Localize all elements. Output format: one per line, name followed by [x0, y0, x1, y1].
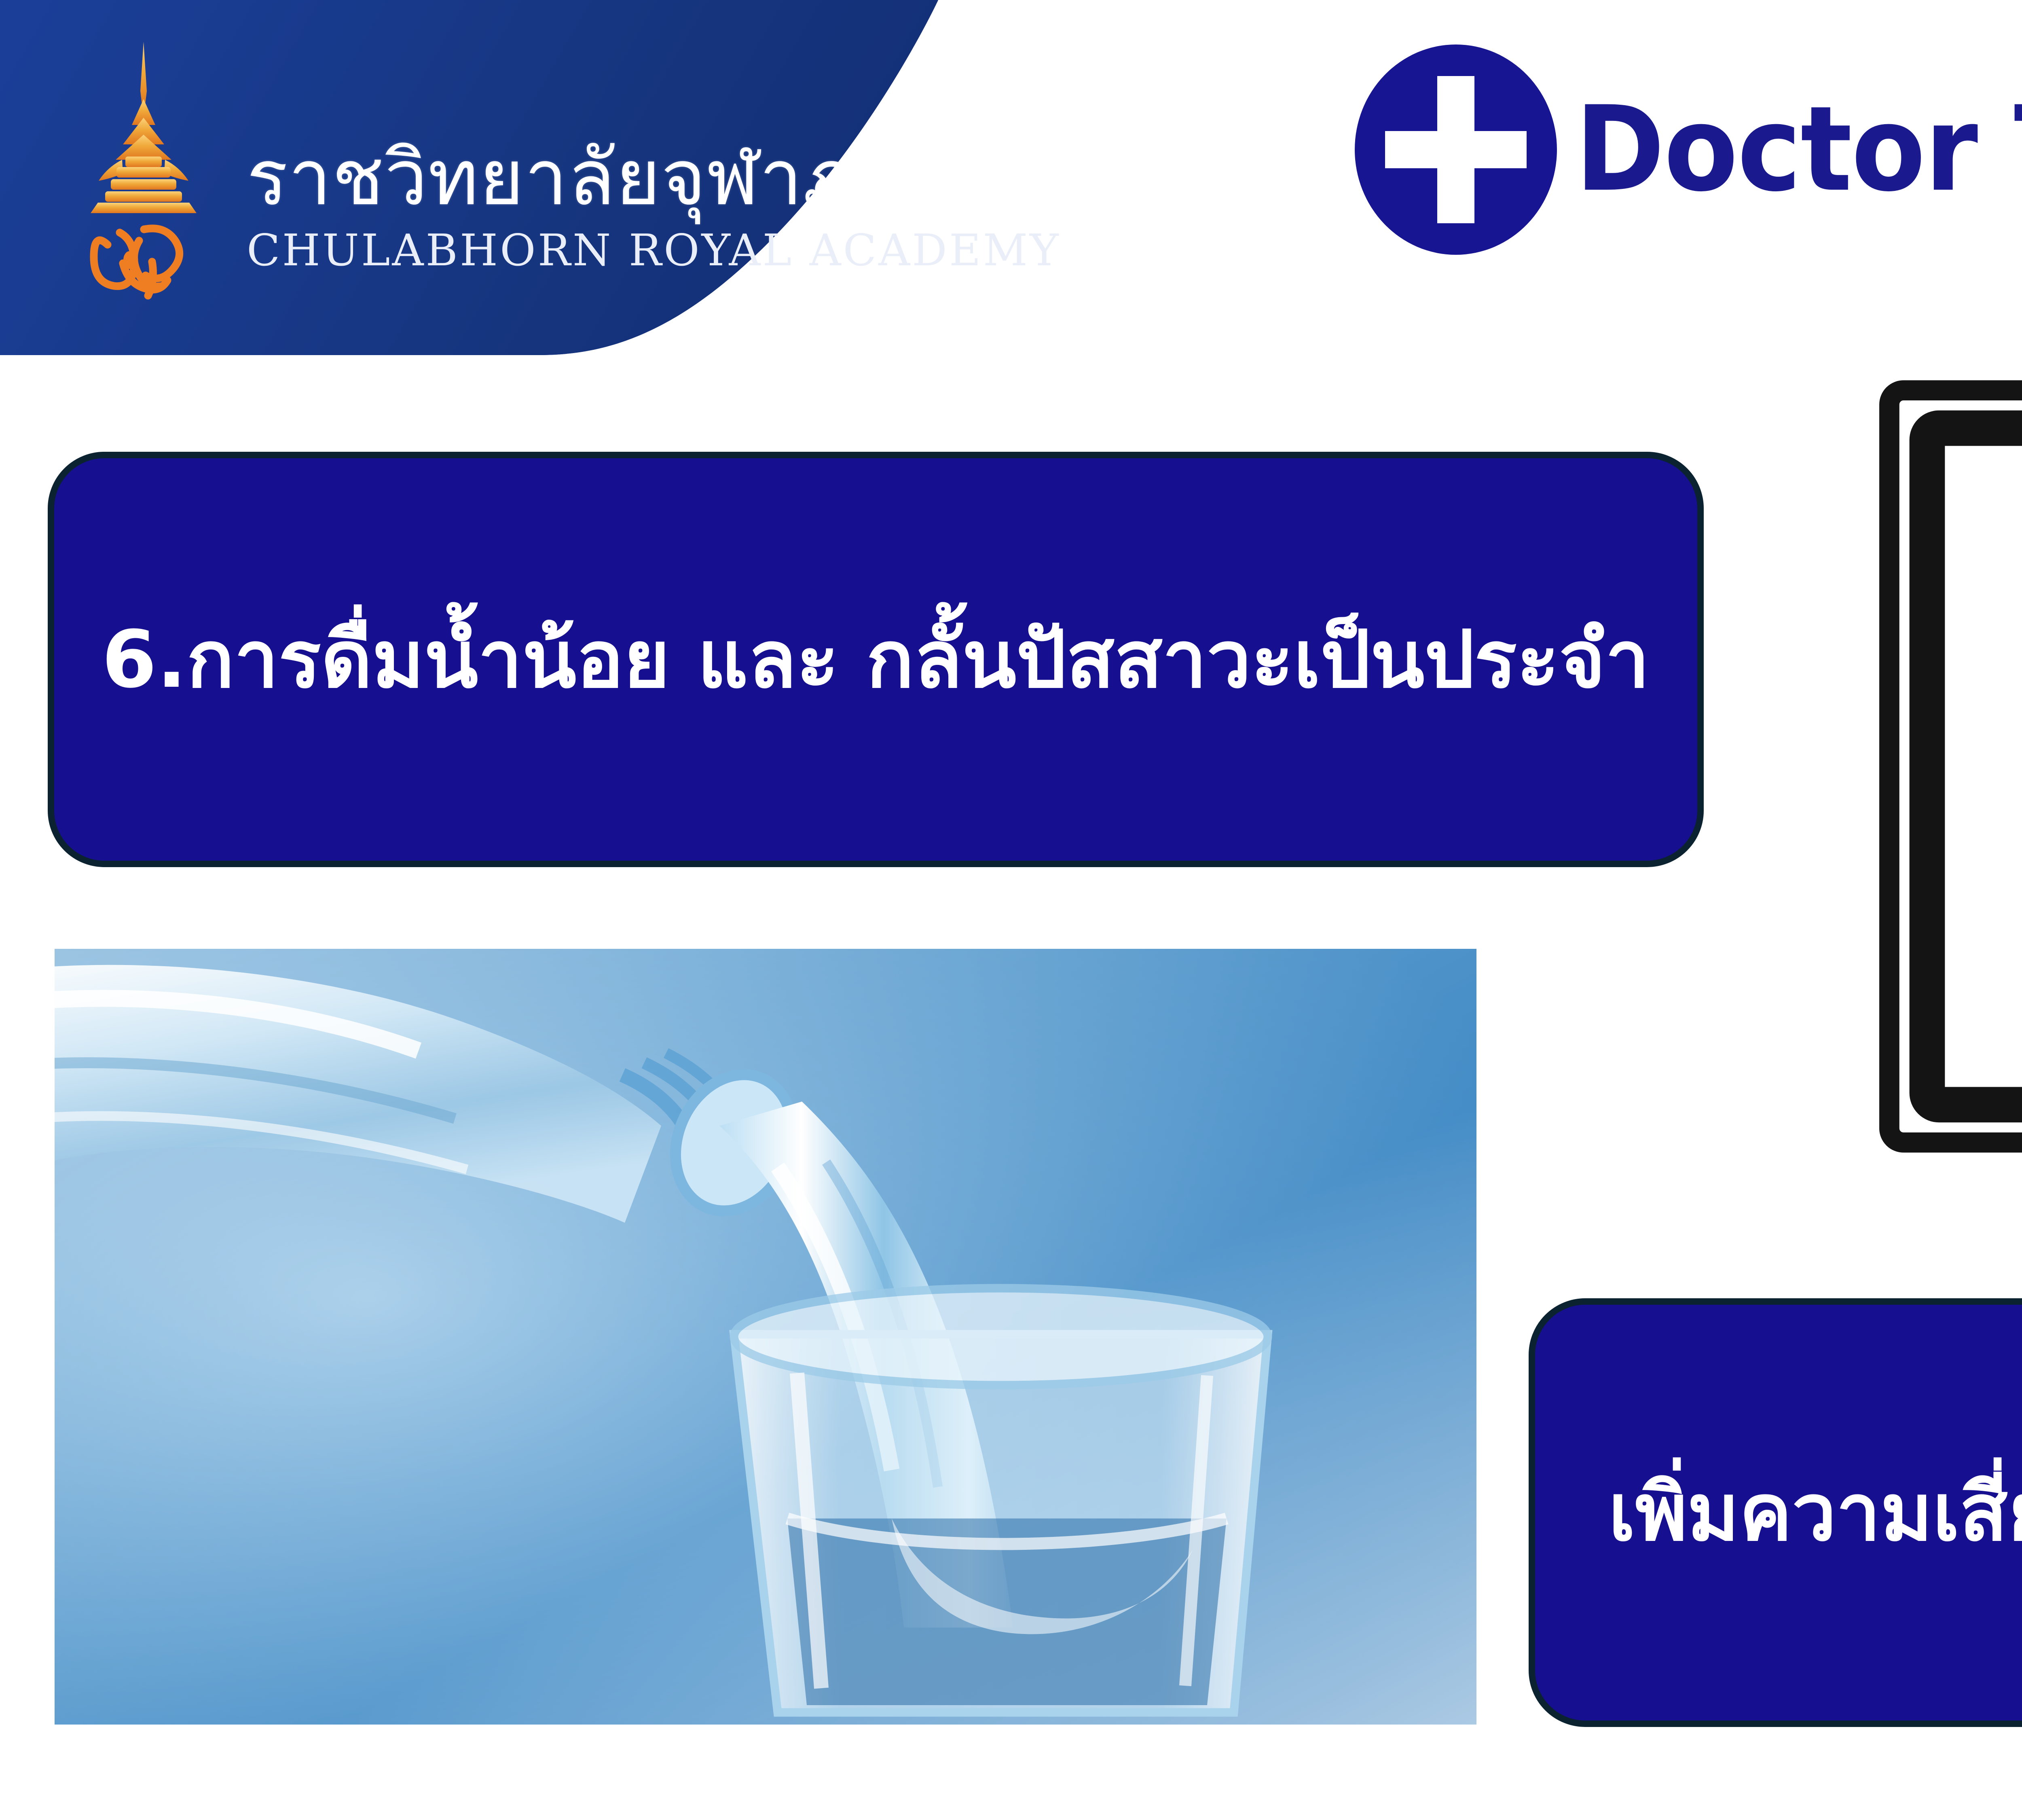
chulabhorn-royal-academy-logo: ราชวิทยาลัยจุฬาภรณ์ CHULABHORN ROYAL ACA… — [69, 32, 776, 324]
slide-canvas: ราชวิทยาลัยจุฬาภรณ์ CHULABHORN ROYAL ACA… — [0, 0, 2022, 1820]
doctor-talk-title-group: Doctor Talk — [1355, 44, 2022, 255]
lesson-title-box: 6.การดื่มน้ำน้อย และ กลั้นปัสสาวะเป็นประ… — [48, 452, 1704, 867]
medical-cross-circle-icon — [1355, 44, 1557, 255]
doctor-talk-title: Doctor Talk — [1575, 91, 2022, 208]
royal-pagoda-emblem-icon — [69, 38, 218, 317]
risk-statement-box: เพิ่มความเสี่ยงต่อการติดเชื้อทางเดินปัสส… — [1529, 1298, 2022, 1727]
institution-thai-name: ราชวิทยาลัยจุฬาภรณ์ — [247, 138, 1061, 218]
institution-name-block: ราชวิทยาลัยจุฬาภรณ์ CHULABHORN ROYAL ACA… — [247, 81, 1061, 275]
restroom-sign-group — [1876, 376, 2022, 1157]
water-pouring-photo — [55, 949, 1476, 1725]
male-holding-urine-sign-icon — [1876, 376, 2022, 1157]
institution-english-name: CHULABHORN ROYAL ACADEMY — [247, 227, 1061, 275]
risk-statement-text: เพิ่มความเสี่ยงต่อการติดเชื้อทางเดินปัสส… — [1572, 1459, 2022, 1566]
lesson-title-text: 6.การดื่มน้ำน้อย และ กลั้นปัสสาวะเป็นประ… — [66, 606, 1686, 713]
